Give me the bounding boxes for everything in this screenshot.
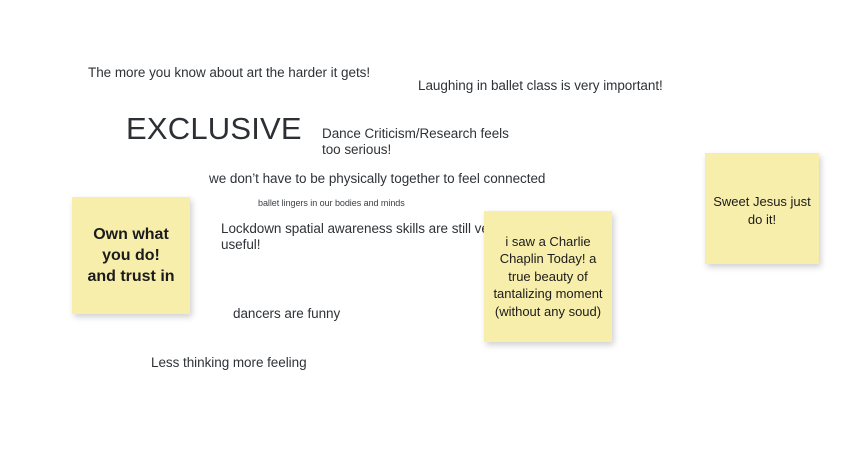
sticky-note-text: Sweet Jesus just do it! (705, 193, 819, 228)
sticky-note-text: i saw a Charlie Chaplin Today! a true be… (484, 233, 612, 321)
text-note-dancers-are-funny[interactable]: dancers are funny (233, 306, 340, 322)
sticky-note-text: Own what you do! and trust in (72, 224, 190, 287)
text-note-physically-together[interactable]: we don’t have to be physically together … (209, 171, 545, 187)
text-note-dance-criticism[interactable]: Dance Criticism/Research feels too serio… (322, 126, 509, 157)
text-note-exclusive[interactable]: EXCLUSIVE (126, 112, 302, 146)
whiteboard-canvas[interactable]: The more you know about art the harder i… (0, 0, 842, 457)
sticky-note-charlie-chaplin[interactable]: i saw a Charlie Chaplin Today! a true be… (484, 211, 612, 342)
text-note-less-thinking[interactable]: Less thinking more feeling (151, 355, 307, 371)
text-note-laughing-ballet[interactable]: Laughing in ballet class is very importa… (418, 78, 663, 94)
text-note-lockdown[interactable]: Lockdown spatial awareness skills are st… (221, 221, 500, 252)
text-note-more-you-know[interactable]: The more you know about art the harder i… (88, 65, 370, 81)
sticky-note-own-what-you-do[interactable]: Own what you do! and trust in (72, 197, 190, 314)
text-note-ballet-lingers[interactable]: ballet lingers in our bodies and minds (258, 198, 405, 209)
sticky-note-sweet-jesus[interactable]: Sweet Jesus just do it! (705, 153, 819, 264)
